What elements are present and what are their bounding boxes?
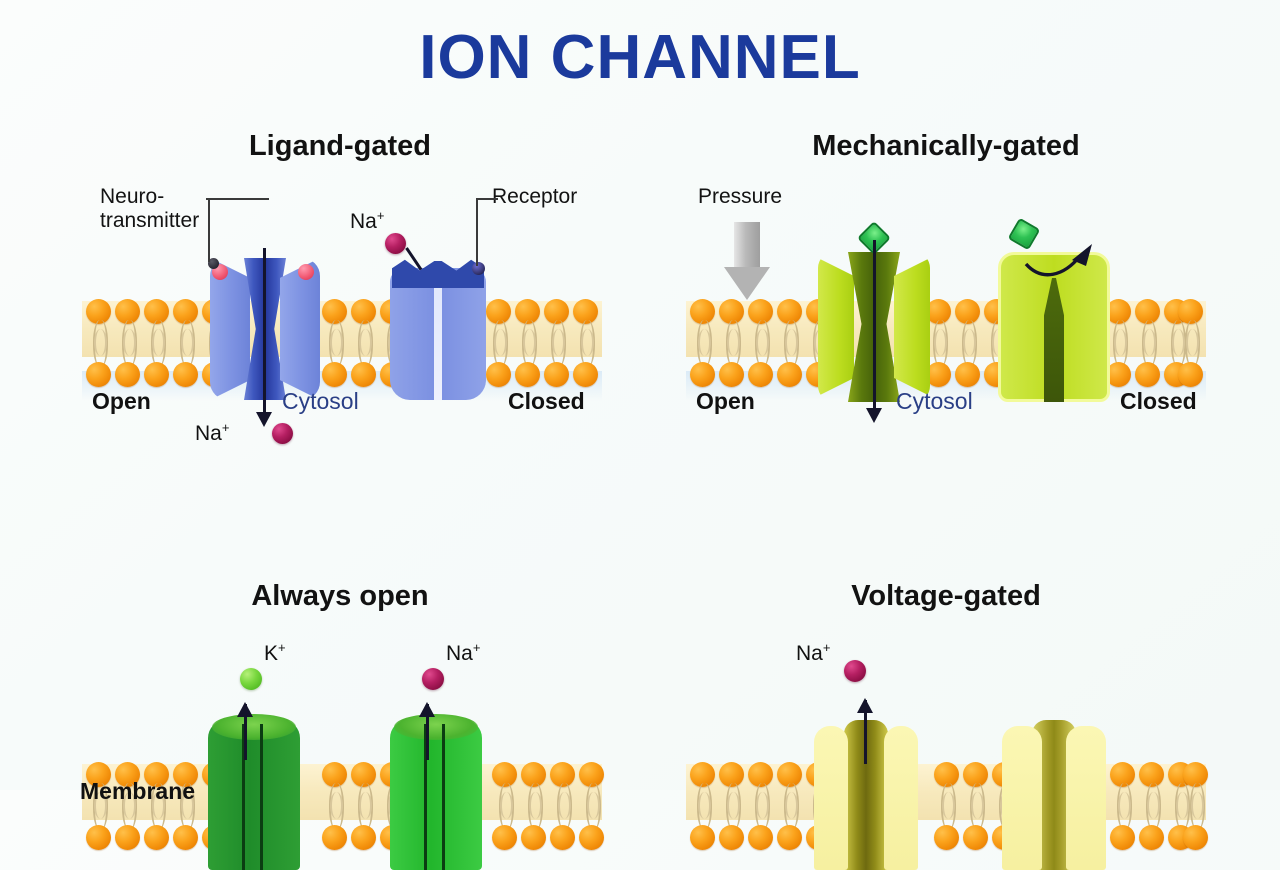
pressure-arrow-icon [724,222,770,302]
k-ion [240,668,262,690]
na-ion-bottom [272,423,293,444]
na-flow-arrow-head-always-open [419,702,435,717]
panel-voltage-gated: Voltage-gated Na+ [668,580,1224,790]
na-ion-top [385,233,406,254]
page-title: ION CHANNEL [0,22,1280,93]
panel-title-always-open: Always open [60,580,620,613]
state-label-closed-mechanical: Closed [1120,388,1197,415]
na-ion-voltage [844,660,866,682]
k-flow-arrow-head [237,702,253,717]
ligand-channel-closed [390,258,486,400]
na-ion-bottom-label: Na+ [195,420,229,446]
state-label-closed-ligand: Closed [508,388,585,415]
neurotransmitter-label: Neuro- transmitter [100,185,199,232]
always-open-channel-right [390,720,482,870]
mechanical-flow-arrow-shaft [873,240,876,412]
na-ion-label-always-open: Na+ [446,640,480,666]
mechanical-flow-arrow-head [866,408,882,423]
k-ion-label: K+ [264,640,286,666]
na-ion-always-open [422,668,444,690]
lipid-bilayer-mechanical [686,285,1206,405]
panel-always-open: Always open K+ [60,580,620,790]
panel-title-mechanically-gated: Mechanically-gated [668,130,1224,163]
na-ion-top-label: Na+ [350,208,384,234]
panel-ligand-gated: Ligand-gated [60,130,620,460]
ion-flow-arrow-head [256,412,272,427]
ligand-release-curve-arrow-icon [1020,234,1106,286]
voltage-channel-closed [1002,720,1106,870]
pressure-label: Pressure [698,185,782,209]
lipid-bilayer-always-open [82,748,602,868]
state-label-open-ligand: Open [92,388,151,415]
state-label-open-mechanical: Open [696,388,755,415]
na-ion-label-voltage: Na+ [796,640,830,666]
panel-mechanically-gated: Mechanically-gated Pressure [668,130,1224,460]
na-flow-arrow-head-voltage [857,698,873,713]
diagram-canvas: ION CHANNEL Ligand-gated [0,0,1280,790]
neurotransmitter-bound-right-icon [298,264,314,280]
always-open-channel-left [208,720,300,870]
membrane-label: Membrane [80,778,195,805]
receptor-label: Receptor [492,185,577,209]
ion-flow-arrow-shaft [263,248,266,416]
lipid-bilayer-voltage [686,748,1206,868]
lipid-bilayer-ligand [82,285,602,405]
cytosol-label-ligand: Cytosol [282,388,359,415]
cytosol-label-mechanical: Cytosol [896,388,973,415]
receptor-dot-icon [472,262,485,275]
panel-title-voltage-gated: Voltage-gated [668,580,1224,613]
panel-title-ligand-gated: Ligand-gated [60,130,620,163]
